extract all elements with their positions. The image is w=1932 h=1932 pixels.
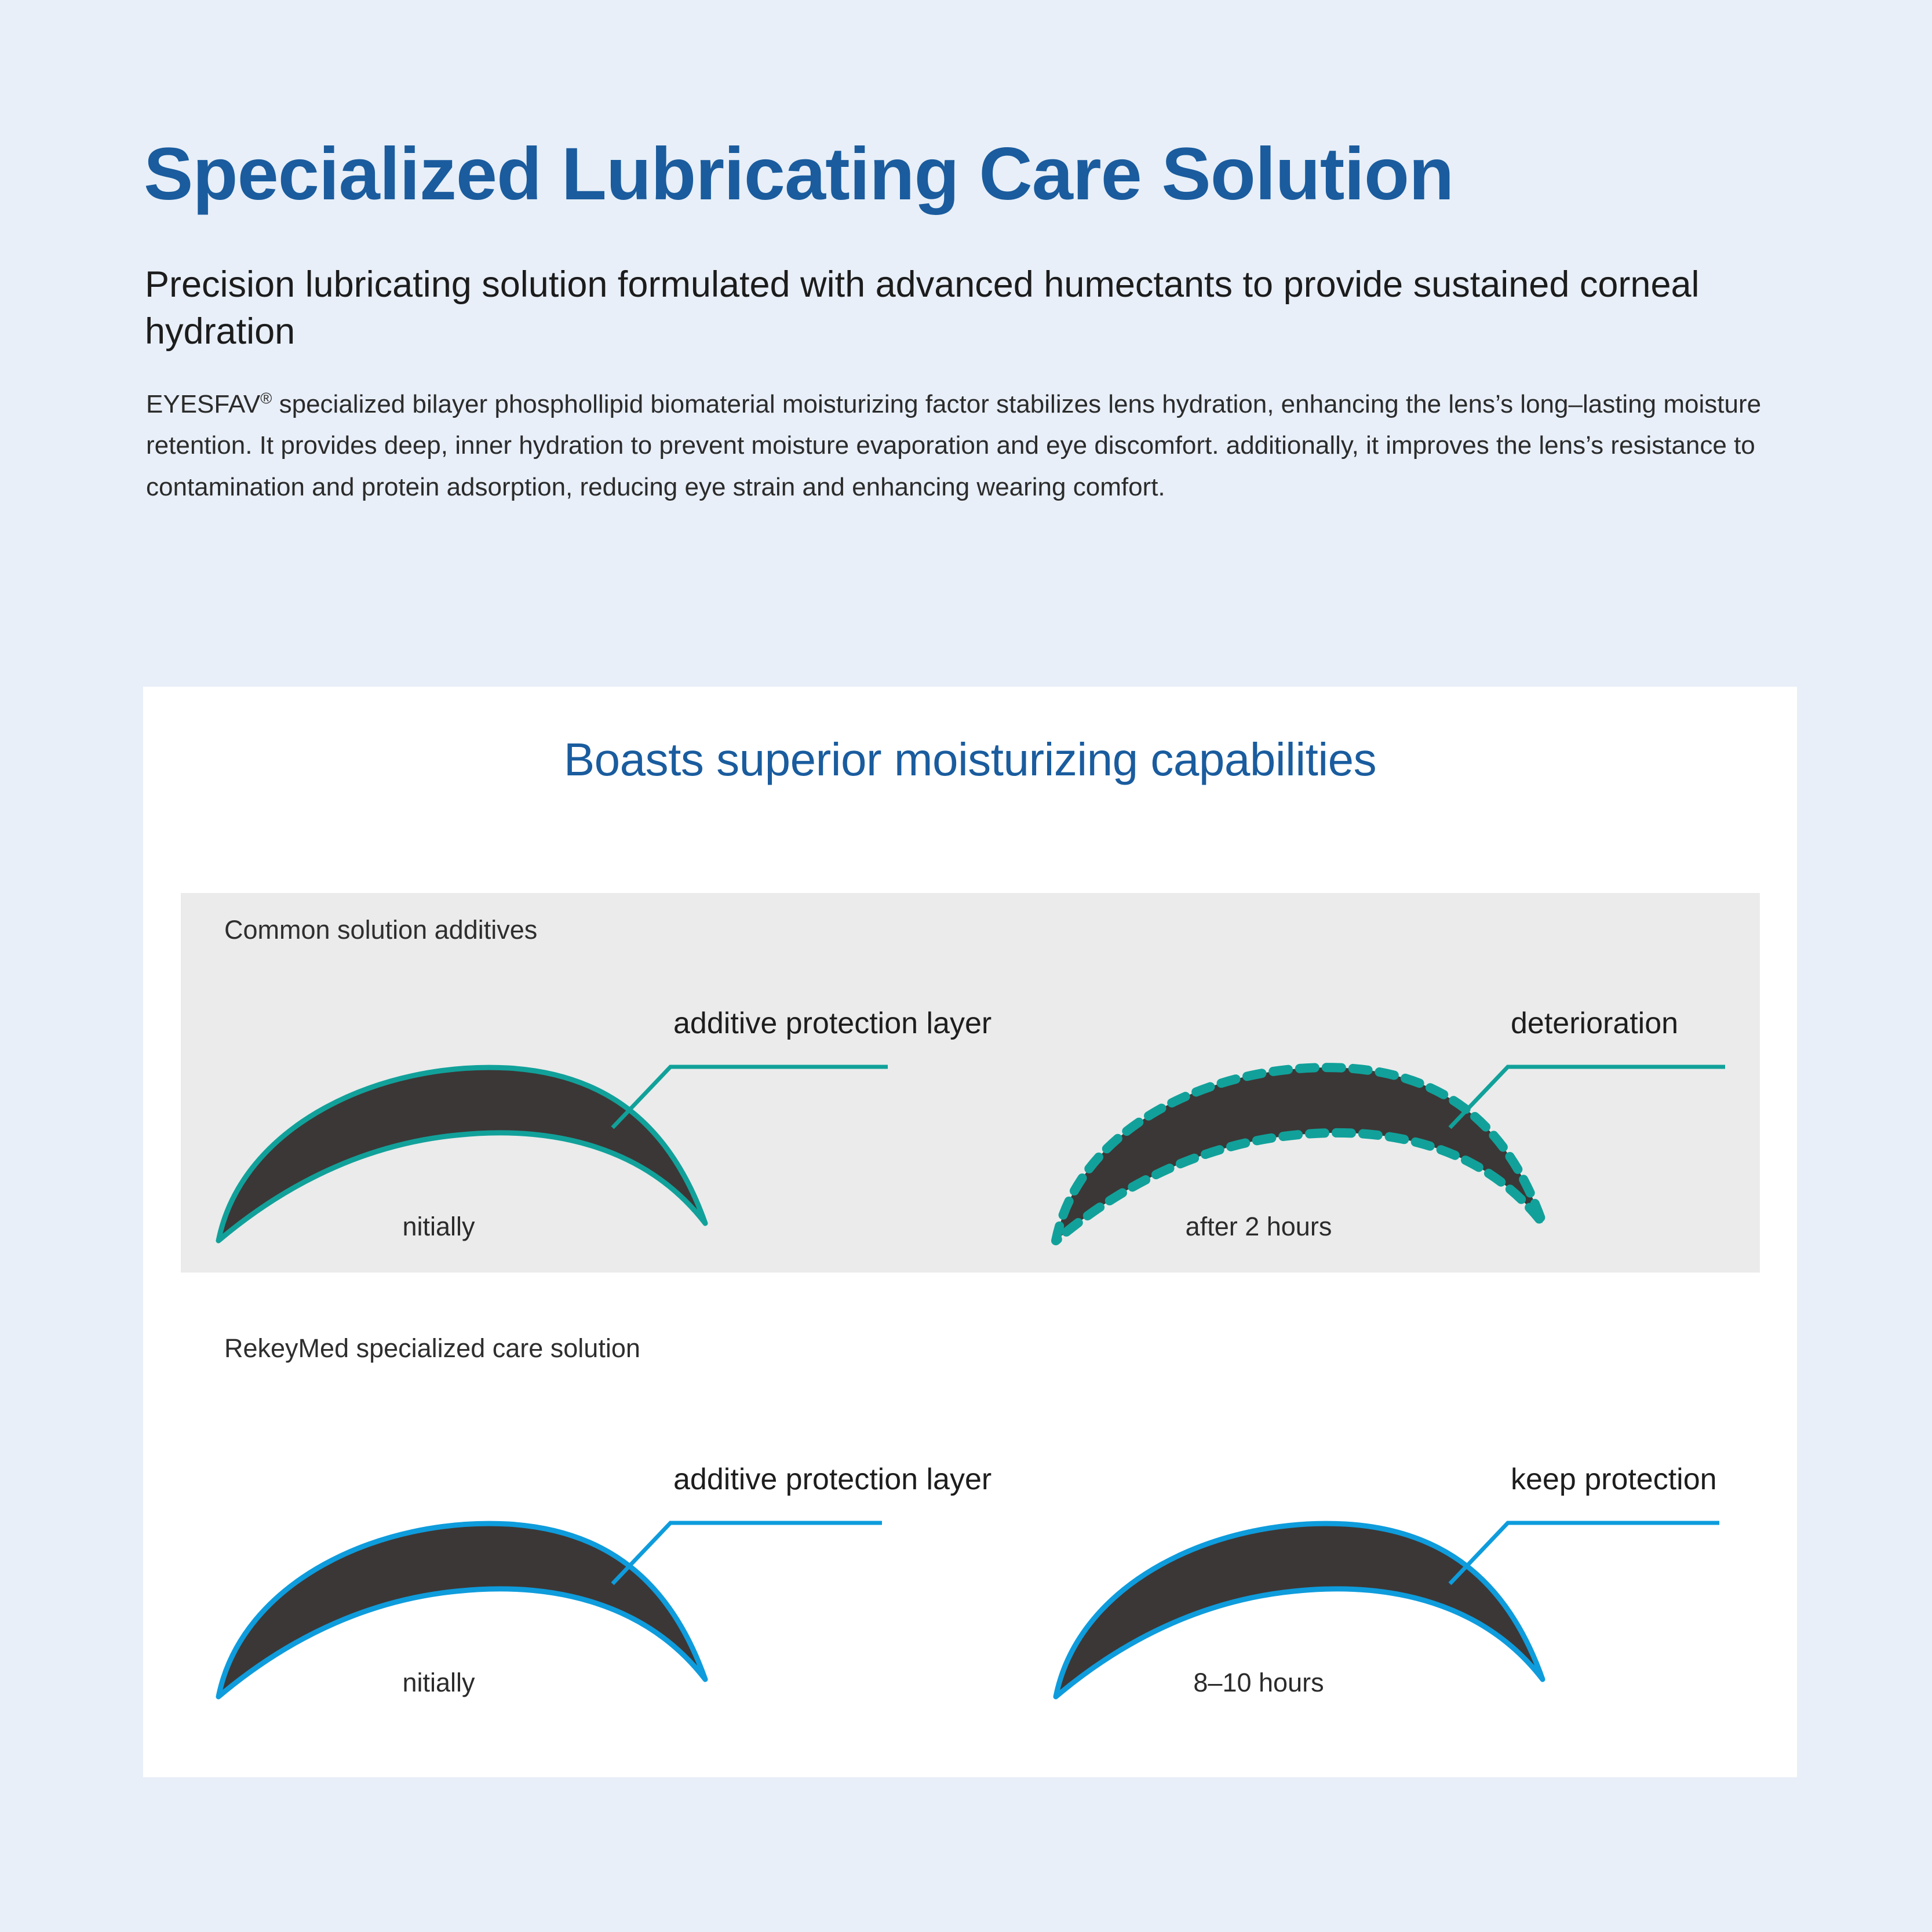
- callout-label-deterioration: deterioration: [1511, 1006, 1678, 1041]
- callout-label-keep-protection: keep protection: [1511, 1462, 1717, 1497]
- figure-rekeymed-after: keep protection 8–10 hours: [1044, 1436, 1740, 1714]
- comparison-card: Boasts superior moisturizing capabilitie…: [143, 687, 1797, 1777]
- brand-name: EYESFAV: [146, 390, 260, 418]
- callout-label-additive-protection-layer: additive protection layer: [673, 1462, 991, 1497]
- figure-caption-8-10-hours: 8–10 hours: [1079, 1668, 1438, 1698]
- figure-caption-after-2-hours: after 2 hours: [1079, 1212, 1438, 1242]
- callout-leader-line: [1450, 1523, 1719, 1584]
- page-subtitle: Precision lubricating solution formulate…: [145, 261, 1808, 355]
- description-text: specialized bilayer phosphollipid biomat…: [146, 390, 1761, 501]
- figure-caption-initially: nitially: [259, 1212, 618, 1242]
- page-description: EYESFAV® specialized bilayer phosphollip…: [146, 384, 1815, 508]
- panel-label-common: Common solution additives: [224, 915, 537, 945]
- figure-common-initial: additive protection layer nitially: [207, 980, 902, 1258]
- panel-common-solution: Common solution additives additive prote…: [181, 893, 1760, 1273]
- figure-rekeymed-initial: additive protection layer nitially: [207, 1436, 902, 1714]
- callout-leader-line: [613, 1523, 882, 1584]
- callout-label-additive-protection-layer: additive protection layer: [673, 1006, 991, 1041]
- panel-label-rekeymed: RekeyMed specialized care solution: [224, 1333, 640, 1364]
- infographic-page: Specialized Lubricating Care Solution Pr…: [0, 0, 1932, 1932]
- figure-common-after: deterioration after 2 hours: [1044, 980, 1740, 1258]
- callout-leader-line: [1450, 1067, 1725, 1128]
- panel-rekeymed-solution: RekeyMed specialized care solution addit…: [181, 1311, 1760, 1729]
- card-title: Boasts superior moisturizing capabilitie…: [143, 733, 1797, 786]
- callout-leader-line: [613, 1067, 888, 1128]
- registered-trademark-symbol: ®: [260, 389, 272, 407]
- page-title: Specialized Lubricating Care Solution: [144, 136, 1801, 213]
- figure-caption-initially: nitially: [259, 1668, 618, 1698]
